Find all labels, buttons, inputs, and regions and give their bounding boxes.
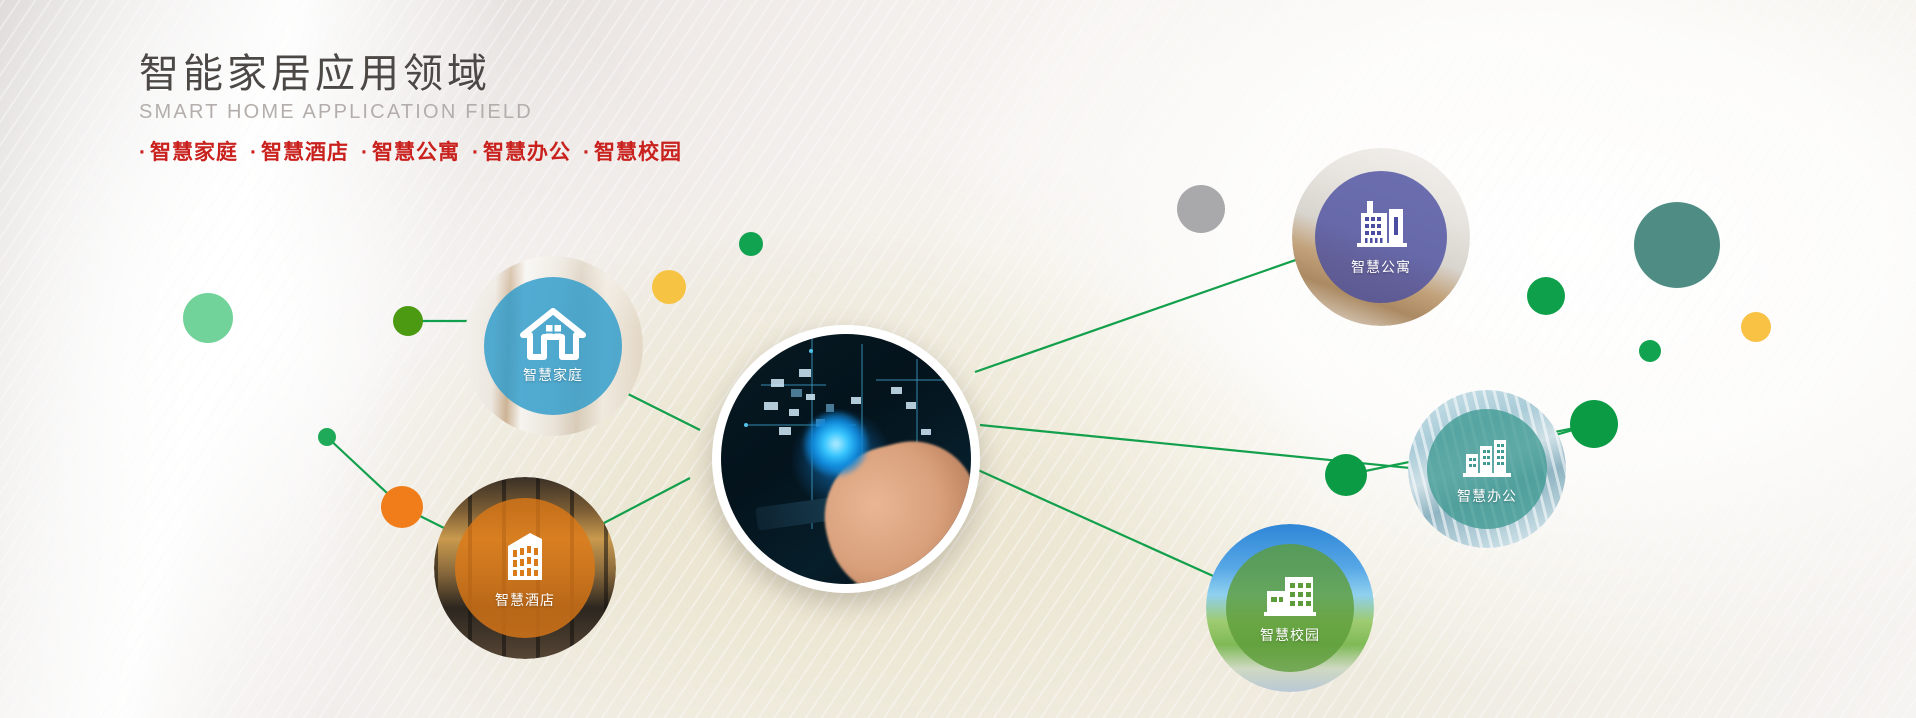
hub-glow <box>804 412 869 477</box>
page-title-en: SMART HOME APPLICATION FIELD <box>139 101 694 124</box>
central-hub[interactable] <box>712 325 980 593</box>
node-home-overlay: 智慧家庭 <box>484 277 622 415</box>
mint-large-dot <box>183 293 233 343</box>
page-title-cn: 智能家居应用领域 <box>139 52 694 97</box>
green-dot-connector-office <box>1570 400 1618 448</box>
node-campus-label: 智慧校园 <box>1260 625 1320 645</box>
green-dot-right-a <box>1527 277 1565 315</box>
keyword-bullet: · <box>472 141 480 164</box>
node-hotel-label: 智慧酒店 <box>495 590 555 610</box>
green-small-dot <box>318 428 336 446</box>
heading-block: 智能家居应用领域 SMART HOME APPLICATION FIELD ·智… <box>139 52 694 166</box>
apartment-towers-icon <box>1351 197 1411 253</box>
orange-dot <box>381 486 423 528</box>
node-campus-overlay: 智慧校园 <box>1226 544 1354 672</box>
green-dot-left <box>393 306 423 336</box>
hotel-building-icon <box>496 526 554 586</box>
node-apartment-label: 智慧公寓 <box>1351 257 1411 277</box>
node-office-overlay: 智慧办公 <box>1427 409 1547 529</box>
green-dot-top <box>739 232 763 256</box>
teal-large-dot <box>1634 202 1720 288</box>
node-apartment[interactable]: 智慧公寓 <box>1292 148 1470 326</box>
school-building-icon <box>1259 571 1321 621</box>
keyword-item[interactable]: 智慧家庭 <box>150 141 238 164</box>
central-hub-image <box>721 334 971 584</box>
house-icon <box>519 307 587 361</box>
node-campus[interactable]: 智慧校园 <box>1206 524 1374 692</box>
gray-dot-top <box>1177 185 1225 233</box>
keyword-list: ·智慧家庭·智慧酒店·智慧公寓·智慧办公·智慧校园 <box>139 136 694 166</box>
node-hotel-overlay: 智慧酒店 <box>455 498 595 638</box>
node-office[interactable]: 智慧办公 <box>1408 390 1566 548</box>
keyword-item[interactable]: 智慧公寓 <box>372 141 460 164</box>
green-dot-right-b <box>1639 340 1661 362</box>
banner-stage: 智能家居应用领域 SMART HOME APPLICATION FIELD ·智… <box>0 0 1916 718</box>
keyword-bullet: · <box>583 141 591 164</box>
keyword-item[interactable]: 智慧酒店 <box>261 141 349 164</box>
office-buildings-icon <box>1458 432 1516 482</box>
node-home[interactable]: 智慧家庭 <box>463 256 643 436</box>
yellow-dot-left <box>652 270 686 304</box>
keyword-item[interactable]: 智慧校园 <box>594 141 682 164</box>
node-hotel[interactable]: 智慧酒店 <box>434 477 616 659</box>
yellow-dot-right <box>1741 312 1771 342</box>
node-apartment-overlay: 智慧公寓 <box>1315 171 1447 303</box>
node-home-label: 智慧家庭 <box>523 365 583 385</box>
keyword-bullet: · <box>139 141 147 164</box>
keyword-bullet: · <box>250 141 258 164</box>
node-office-label: 智慧办公 <box>1457 486 1517 506</box>
keyword-item[interactable]: 智慧办公 <box>483 141 571 164</box>
green-dot-connector-mid <box>1325 454 1367 496</box>
keyword-bullet: · <box>361 141 369 164</box>
